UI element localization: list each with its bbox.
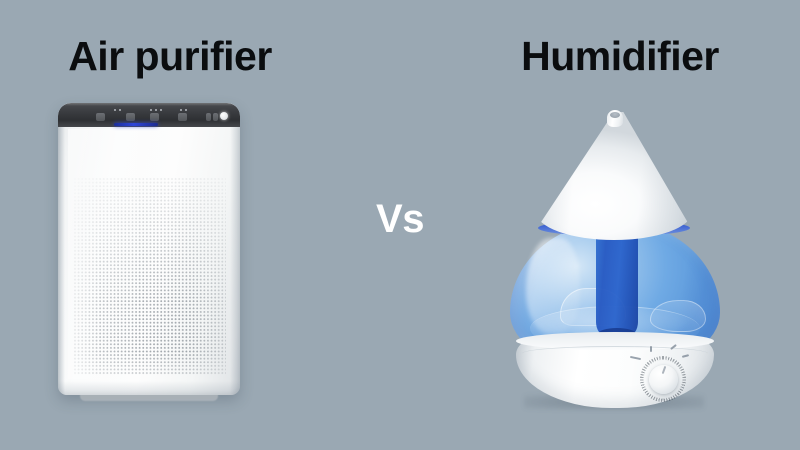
lock-button[interactable] [206, 113, 211, 121]
air-purifier-bottom-edge [58, 381, 240, 395]
light-button[interactable] [213, 113, 218, 121]
timer-button[interactable] [150, 113, 159, 121]
status-led-icon [185, 109, 187, 111]
humidifier-base-seam [522, 346, 708, 361]
humidifier-tank-gloss [526, 238, 580, 334]
air-purifier-body [58, 103, 240, 395]
page-title-left: Air purifier [0, 36, 340, 77]
knob-scale-mark [650, 346, 652, 352]
power-button[interactable] [220, 112, 228, 120]
fan-speed-button[interactable] [126, 113, 135, 121]
air-purifier-right-edge [230, 103, 240, 395]
status-led-icon [150, 109, 152, 111]
status-led-icon [114, 109, 116, 111]
humidifier-nozzle-opening [610, 112, 620, 118]
humidifier-mist-tube [596, 228, 638, 336]
status-led-icon [160, 109, 162, 111]
status-led-icon [119, 109, 121, 111]
air-purifier-grille [74, 178, 226, 375]
page-title-right: Humidifier [450, 36, 790, 77]
air-purifier-image [58, 103, 240, 395]
humidifier-image [500, 110, 730, 412]
ionizer-button[interactable] [178, 113, 187, 121]
status-led-icon [155, 109, 157, 111]
air-purifier-left-edge [58, 103, 65, 395]
vs-label: Vs [340, 199, 460, 239]
comparison-graphic: Air purifier Humidifier Vs [0, 0, 800, 450]
mode-button[interactable] [96, 113, 105, 121]
humidifier-cone-shading [536, 112, 692, 240]
air-quality-indicator [114, 123, 158, 126]
status-led-icon [180, 109, 182, 111]
